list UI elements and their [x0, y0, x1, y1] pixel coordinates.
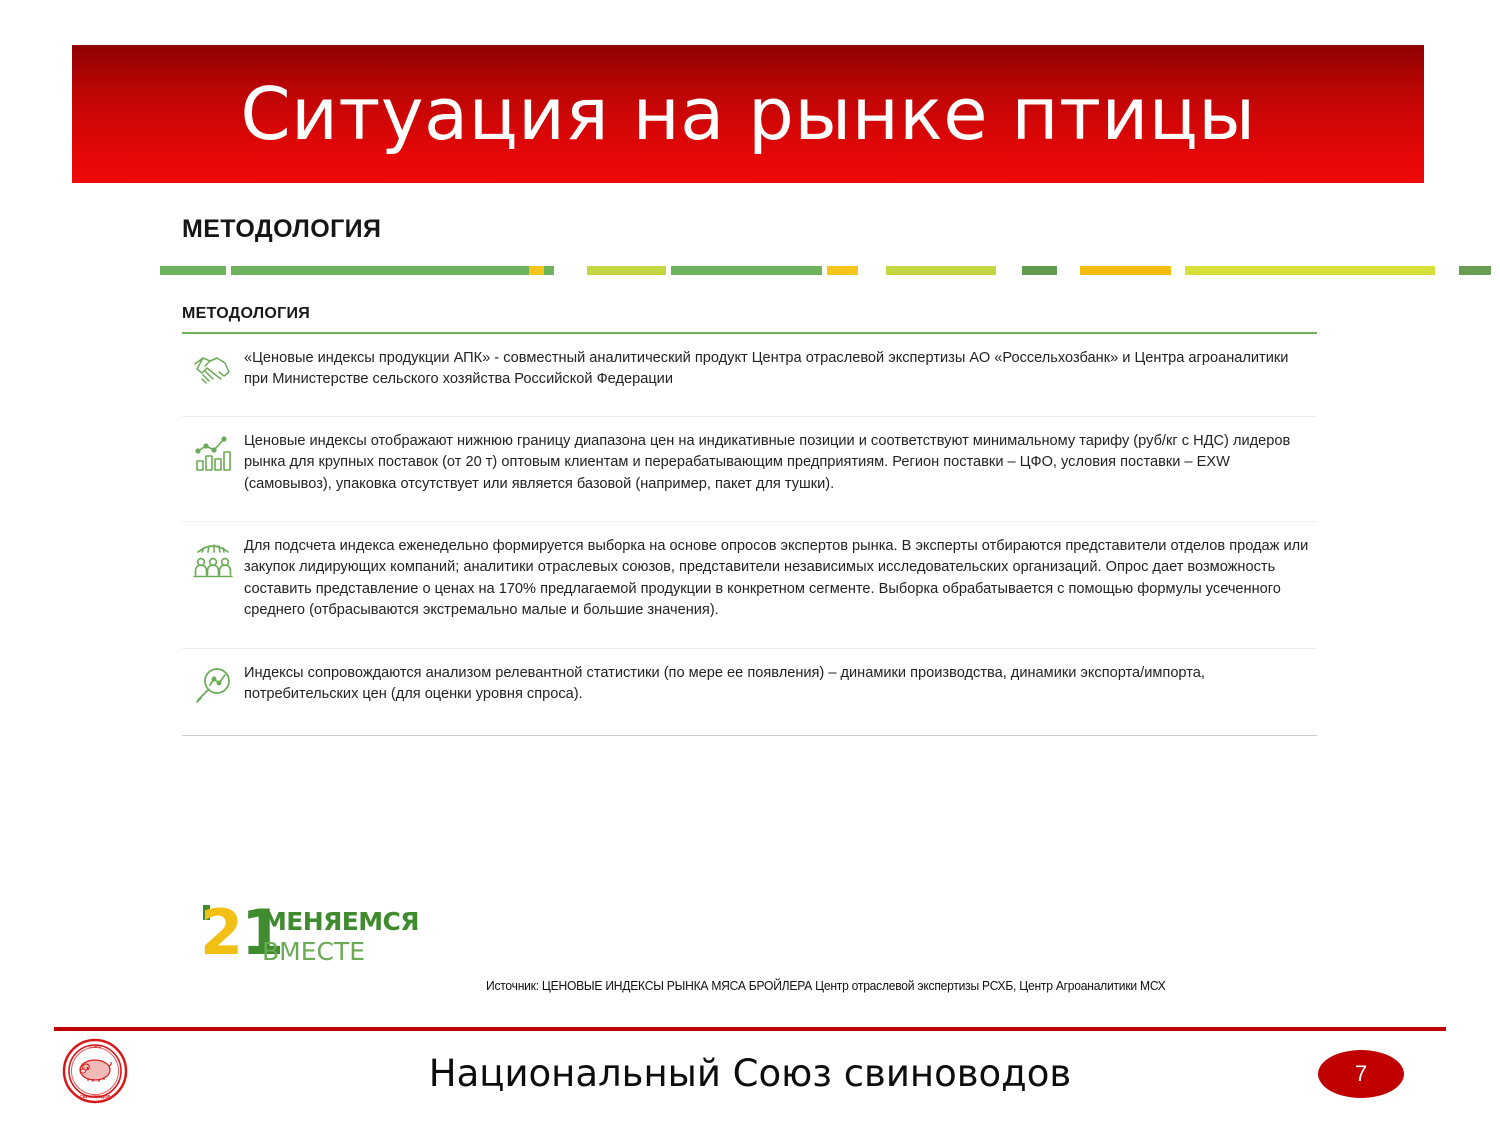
- page-title: Ситуация на рынке птицы: [72, 78, 1424, 150]
- source-note: Источник: ЦЕНОВЫЕ ИНДЕКСЫ РЫНКА МЯСА БРО…: [486, 979, 1350, 993]
- bar-chart-icon: [182, 431, 244, 474]
- footer-organization-name: Национальный Союз свиноводов: [0, 1052, 1500, 1095]
- segment-bar-piece: [827, 266, 858, 275]
- people-group-icon: [182, 536, 244, 579]
- segment-bar-piece: [671, 266, 822, 275]
- decorative-segment-bar: [150, 266, 1355, 275]
- methodology-row: Индексы сопровождаются анализом релевант…: [182, 649, 1317, 736]
- segment-bar-piece: [886, 266, 996, 275]
- handshake-icon: [182, 348, 244, 389]
- brand-logo-menyaemsya-vmeste: 21 МЕНЯЕМСЯ ВМЕСТЕ: [200, 900, 400, 982]
- logo-word-bottom: ВМЕСТЕ: [262, 937, 365, 966]
- segment-bar-piece: [160, 266, 226, 275]
- methodology-row: «Ценовые индексы продукции АПК» - совмес…: [182, 334, 1317, 417]
- segment-bar-piece: [1022, 266, 1057, 275]
- methodology-row-text: Для подсчета индекса еженедельно формиру…: [244, 536, 1317, 622]
- segment-bar-piece: [529, 266, 544, 275]
- methodology-row-text: Ценовые индексы отображают нижнюю границ…: [244, 431, 1317, 495]
- page-number-badge: 7: [1318, 1050, 1404, 1098]
- segment-bar-piece: [231, 266, 554, 275]
- magnifier-chart-icon: [182, 663, 244, 706]
- methodology-row-text: «Ценовые индексы продукции АПК» - совмес…: [244, 348, 1317, 391]
- card-heading: МЕТОДОЛОГИЯ: [182, 215, 1355, 244]
- methodology-row: Для подсчета индекса еженедельно формиру…: [182, 522, 1317, 649]
- svg-text:СОЮЗ: СОЮЗ: [88, 1044, 101, 1049]
- methodology-panel: МЕТОДОЛОГИЯ «Ценовые индексы продукции А…: [182, 305, 1317, 736]
- methodology-row: Ценовые индексы отображают нижнюю границ…: [182, 417, 1317, 522]
- methodology-card: МЕТОДОЛОГИЯ МЕТОДОЛОГИЯ «Ценовые индексы…: [150, 215, 1355, 736]
- panel-heading: МЕТОДОЛОГИЯ: [182, 305, 1317, 334]
- segment-bar-piece: [1459, 266, 1491, 275]
- methodology-row-text: Индексы сопровождаются анализом релевант…: [244, 663, 1317, 706]
- segment-bar-piece: [1185, 266, 1435, 275]
- logo-word-top: МЕНЯЕМСЯ: [262, 907, 419, 936]
- footer-divider: [54, 1027, 1446, 1031]
- slide-title-banner: Ситуация на рынке птицы: [72, 45, 1424, 183]
- segment-bar-piece: [1080, 266, 1171, 275]
- logo-digit-2: 2: [200, 896, 241, 969]
- segment-bar-piece: [587, 266, 666, 275]
